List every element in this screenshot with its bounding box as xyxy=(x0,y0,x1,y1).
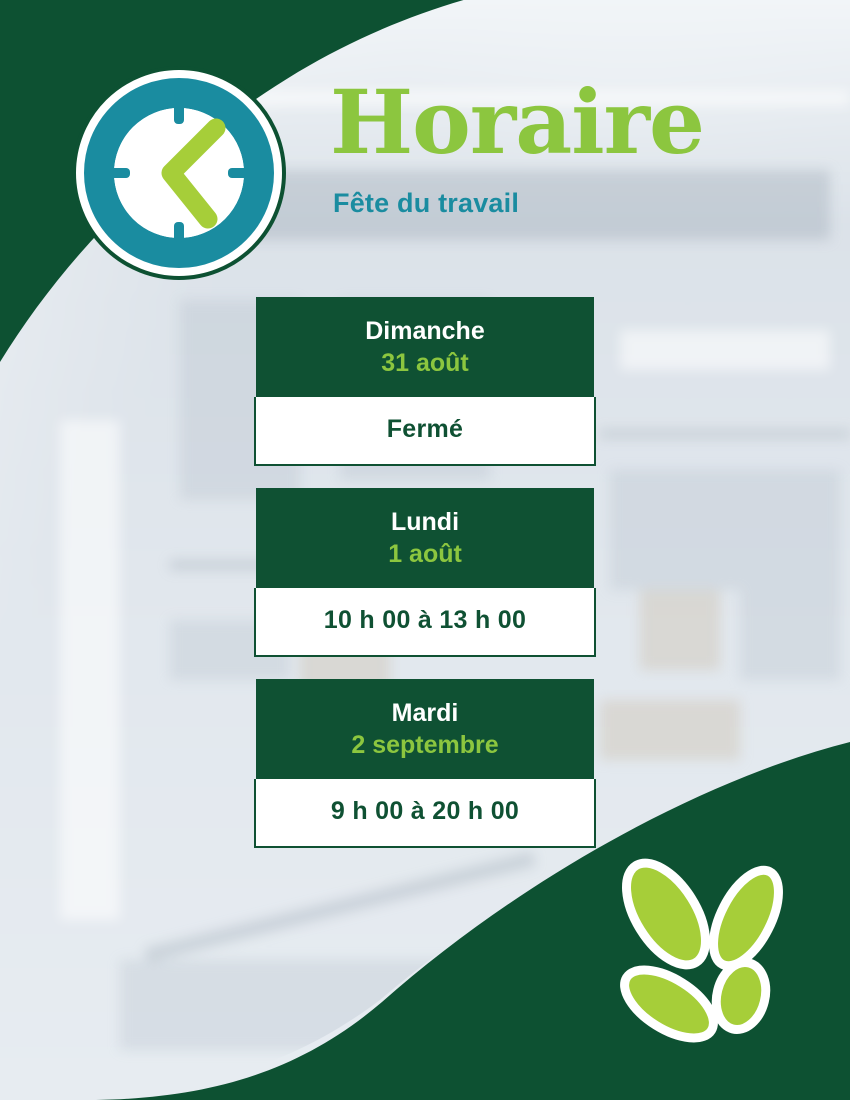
schedule-date-label: 1 août xyxy=(266,539,584,570)
schedule-card-list: Dimanche 31 août Fermé Lundi 1 août 10 h… xyxy=(0,297,850,870)
poster-header: Horaire Fête du travail xyxy=(0,0,850,290)
schedule-card-body: Fermé xyxy=(254,397,596,466)
schedule-card: Lundi 1 août 10 h 00 à 13 h 00 xyxy=(256,488,594,657)
schedule-day-label: Lundi xyxy=(266,508,584,537)
schedule-card-body: 9 h 00 à 20 h 00 xyxy=(254,779,596,848)
schedule-day-label: Mardi xyxy=(266,699,584,728)
schedule-card-header: Dimanche 31 août xyxy=(256,297,594,397)
page-title: Horaire xyxy=(330,78,830,166)
schedule-card-body: 10 h 00 à 13 h 00 xyxy=(254,588,596,657)
schedule-hours-label: Fermé xyxy=(264,415,586,444)
schedule-poster: Horaire Fête du travail Dimanche 31 août… xyxy=(0,0,850,1100)
schedule-date-label: 2 septembre xyxy=(266,730,584,761)
schedule-hours-label: 9 h 00 à 20 h 00 xyxy=(264,797,586,826)
schedule-date-label: 31 août xyxy=(266,348,584,379)
page-subtitle: Fête du travail xyxy=(333,188,830,219)
schedule-card-header: Lundi 1 août xyxy=(256,488,594,588)
clock-icon xyxy=(72,66,286,280)
butterfly-logo-icon xyxy=(614,856,804,1056)
schedule-card: Mardi 2 septembre 9 h 00 à 20 h 00 xyxy=(256,679,594,848)
title-block: Horaire Fête du travail xyxy=(330,78,830,219)
schedule-card-header: Mardi 2 septembre xyxy=(256,679,594,779)
schedule-day-label: Dimanche xyxy=(266,317,584,346)
schedule-hours-label: 10 h 00 à 13 h 00 xyxy=(264,606,586,635)
schedule-card: Dimanche 31 août Fermé xyxy=(256,297,594,466)
